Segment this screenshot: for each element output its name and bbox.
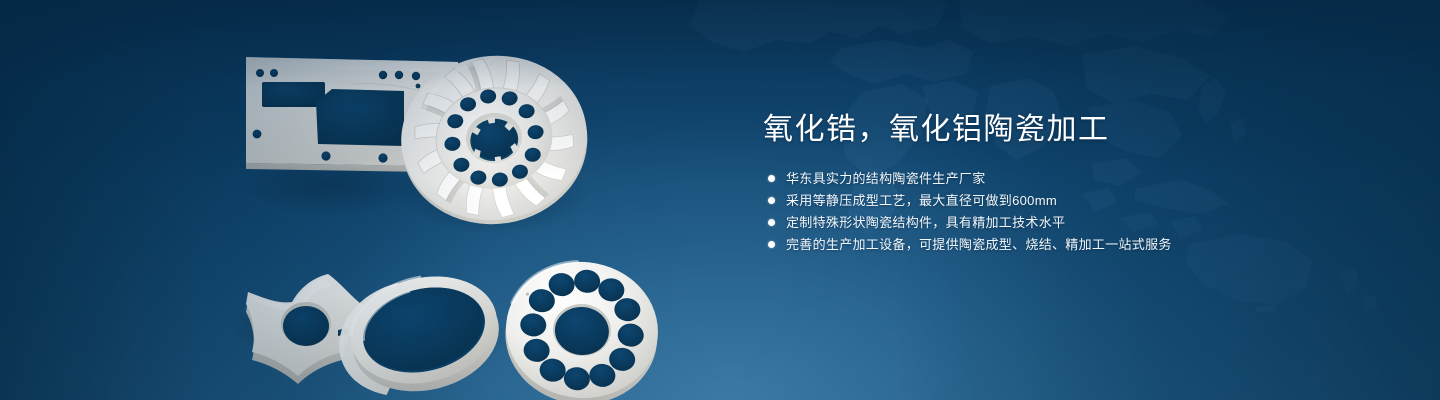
hero-banner: 氧化锆，氧化铝陶瓷加工 华东具实力的结构陶瓷件生产厂家 采用等静压成型工艺，最大… [0, 0, 1440, 400]
bullet-dot-icon [768, 175, 775, 182]
ceramic-products-photo-group [232, 38, 702, 378]
list-item-label: 采用等静压成型工艺，最大直径可做到600mm [786, 190, 1057, 211]
bullet-dot-icon [768, 241, 775, 248]
list-item-label: 华东具实力的结构陶瓷件生产厂家 [786, 168, 986, 189]
list-item: 定制特殊形状陶瓷结构件，具有精加工技术水平 [763, 212, 1323, 233]
banner-copy-block: 氧化锆，氧化铝陶瓷加工 华东具实力的结构陶瓷件生产厂家 采用等静压成型工艺，最大… [763, 110, 1323, 256]
ceramic-perforated-disc [499, 254, 665, 400]
list-item-label: 完善的生产加工设备，可提供陶瓷成型、烧结、精加工一站式服务 [786, 234, 1172, 255]
list-item-label: 定制特殊形状陶瓷结构件，具有精加工技术水平 [786, 212, 1065, 233]
bullet-dot-icon [768, 219, 775, 226]
list-item: 完善的生产加工设备，可提供陶瓷成型、烧结、精加工一站式服务 [763, 234, 1323, 255]
list-item: 采用等静压成型工艺，最大直径可做到600mm [763, 190, 1323, 211]
bullet-dot-icon [768, 197, 775, 204]
banner-feature-list: 华东具实力的结构陶瓷件生产厂家 采用等静压成型工艺，最大直径可做到600mm 定… [763, 168, 1323, 255]
list-item: 华东具实力的结构陶瓷件生产厂家 [763, 168, 1323, 189]
banner-headline: 氧化锆，氧化铝陶瓷加工 [763, 110, 1323, 150]
